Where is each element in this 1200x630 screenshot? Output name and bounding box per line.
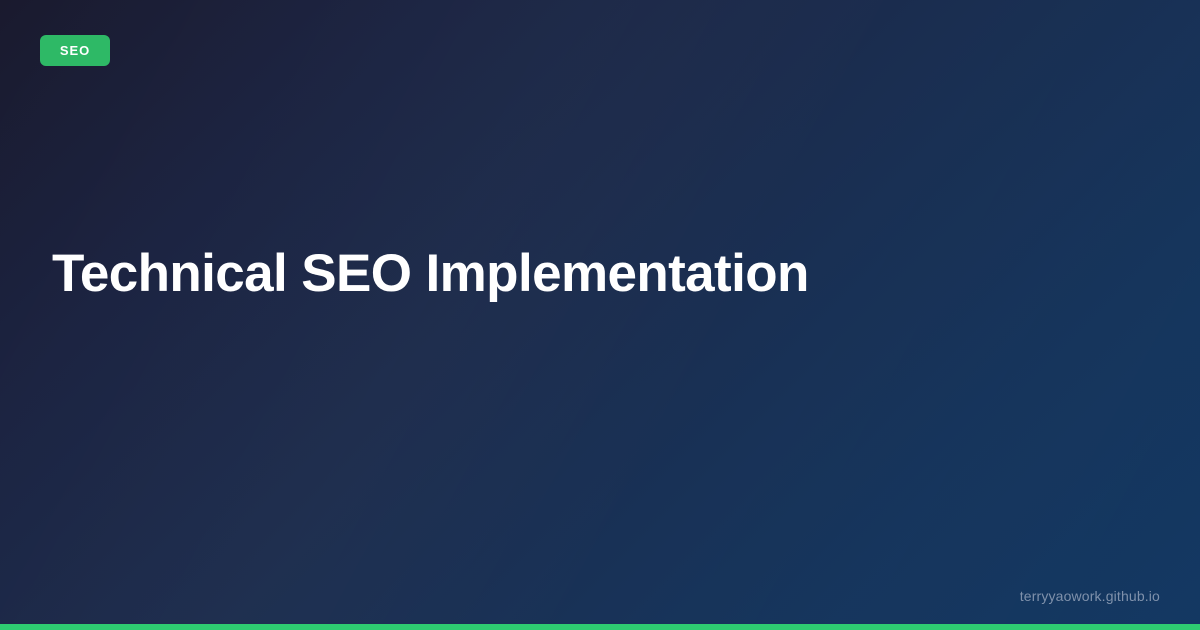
- background-sheen-overlay: [0, 0, 1200, 630]
- site-watermark: terryyaowork.github.io: [1020, 589, 1160, 603]
- bottom-accent-bar: [0, 624, 1200, 630]
- slide-title: Technical SEO Implementation: [52, 244, 1112, 303]
- category-badge: SEO: [40, 35, 110, 66]
- slide-canvas: SEO Technical SEO Implementation terryya…: [0, 0, 1200, 630]
- category-badge-label: SEO: [60, 44, 90, 57]
